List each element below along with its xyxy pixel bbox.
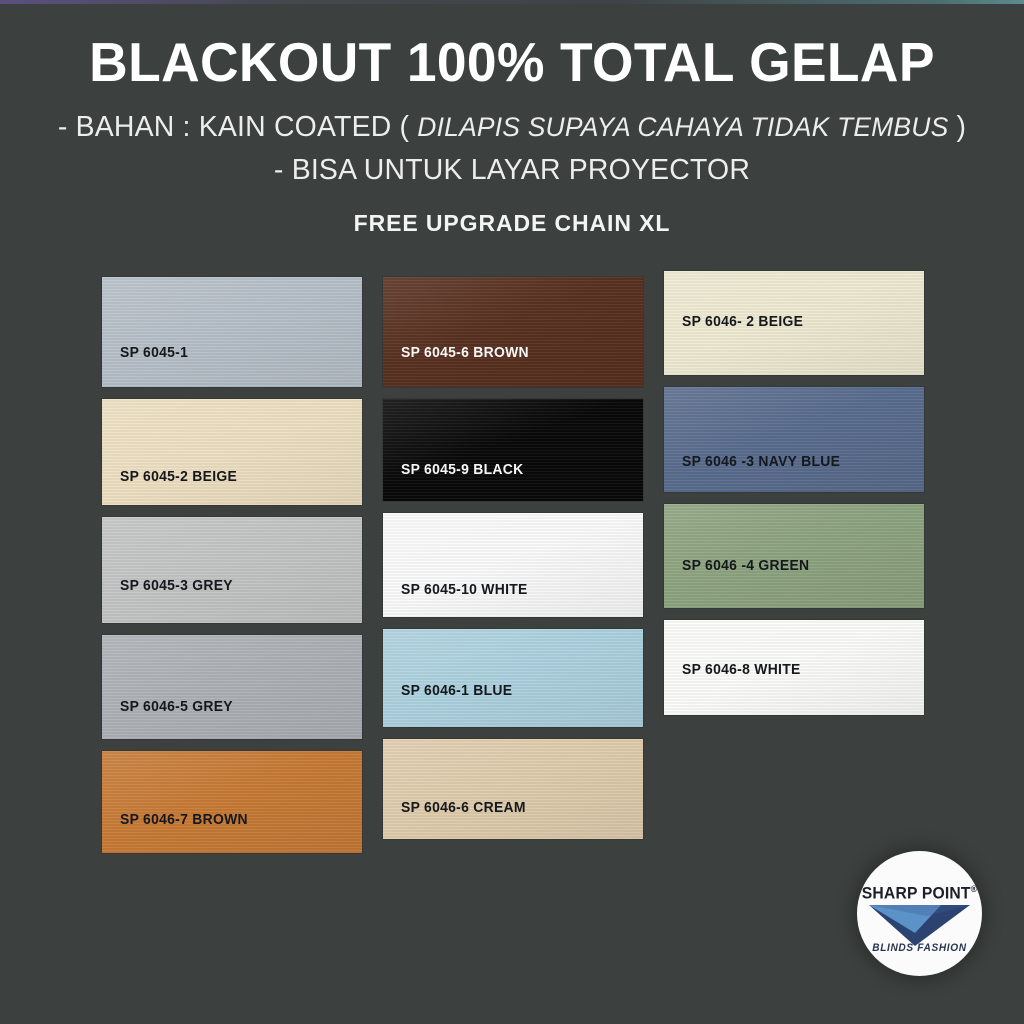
brand-name: SHARP POINT®	[860, 884, 979, 904]
brand-name-text: SHARP POINT	[862, 885, 971, 903]
color-swatch[interactable]: SP 6045-9 BLACK	[383, 399, 643, 501]
page-title: BLACKOUT 100% TOTAL GELAP	[15, 34, 1008, 92]
swatch-label: SP 6045-2 BEIGE	[120, 469, 237, 485]
registered-trademark-icon: ®	[971, 884, 978, 894]
color-swatch[interactable]: SP 6045-1	[102, 277, 362, 387]
header-block: BLACKOUT 100% TOTAL GELAP - BAHAN : KAIN…	[0, 0, 1024, 237]
subtitle-material-prefix: - BAHAN : KAIN COATED (	[58, 111, 409, 143]
swatch-label: SP 6046-8 WHITE	[682, 662, 801, 678]
color-swatch[interactable]: SP 6045-2 BEIGE	[102, 399, 362, 505]
swatch-label: SP 6045-1	[120, 345, 188, 361]
color-swatch[interactable]: SP 6046 -3 NAVY BLUE	[664, 387, 924, 492]
brand-tagline: BLINDS FASHION	[862, 942, 977, 954]
swatch-column-1: SP 6045-1SP 6045-2 BEIGESP 6045-3 GREYSP…	[102, 277, 362, 865]
swatch-column-2: SP 6045-6 BROWNSP 6045-9 BLACKSP 6045-10…	[383, 277, 643, 851]
swatch-label: SP 6045-9 BLACK	[401, 462, 523, 478]
color-swatch[interactable]: SP 6046- 2 BEIGE	[664, 271, 924, 375]
swatch-column-3: SP 6046- 2 BEIGESP 6046 -3 NAVY BLUESP 6…	[664, 271, 924, 727]
color-swatch[interactable]: SP 6046 -4 GREEN	[664, 504, 924, 608]
color-swatch[interactable]: SP 6046-5 GREY	[102, 635, 362, 739]
swatch-label: SP 6046- 2 BEIGE	[682, 314, 803, 330]
poster-canvas: BLACKOUT 100% TOTAL GELAP - BAHAN : KAIN…	[0, 0, 1024, 1024]
swatch-label: SP 6046-5 GREY	[120, 699, 233, 715]
swatch-label: SP 6045-3 GREY	[120, 578, 233, 594]
promo-banner-text: FREE UPGRADE CHAIN XL	[0, 210, 1024, 237]
subtitle-material: - BAHAN : KAIN COATED ( DILAPIS SUPAYA C…	[10, 111, 1014, 144]
swatch-label: SP 6046-7 BROWN	[120, 812, 248, 828]
arrow-swoosh-icon	[869, 903, 970, 946]
color-swatch[interactable]: SP 6045-6 BROWN	[383, 277, 643, 387]
swatch-label: SP 6046 -4 GREEN	[682, 558, 809, 574]
color-swatch[interactable]: SP 6046-7 BROWN	[102, 751, 362, 853]
swatch-label: SP 6045-6 BROWN	[401, 345, 529, 361]
color-swatch-grid: SP 6045-1SP 6045-2 BEIGESP 6045-3 GREYSP…	[0, 277, 1024, 837]
swatch-label: SP 6046-1 BLUE	[401, 683, 512, 699]
color-swatch[interactable]: SP 6046-6 CREAM	[383, 739, 643, 839]
subtitle-material-suffix: )	[957, 111, 967, 143]
color-swatch[interactable]: SP 6046-1 BLUE	[383, 629, 643, 727]
color-swatch[interactable]: SP 6045-10 WHITE	[383, 513, 643, 617]
color-swatch[interactable]: SP 6046-8 WHITE	[664, 620, 924, 715]
swatch-label: SP 6045-10 WHITE	[401, 582, 528, 598]
color-swatch[interactable]: SP 6045-3 GREY	[102, 517, 362, 623]
brand-logo-badge: SHARP POINT® BLINDS FASHION	[857, 851, 982, 976]
subtitle-material-italic: DILAPIS SUPAYA CAHAYA TIDAK TEMBUS	[417, 112, 948, 142]
swatch-label: SP 6046-6 CREAM	[401, 800, 526, 816]
swatch-label: SP 6046 -3 NAVY BLUE	[682, 454, 840, 470]
subtitle-projector: - BISA UNTUK LAYAR PROYECTOR	[10, 154, 1014, 187]
